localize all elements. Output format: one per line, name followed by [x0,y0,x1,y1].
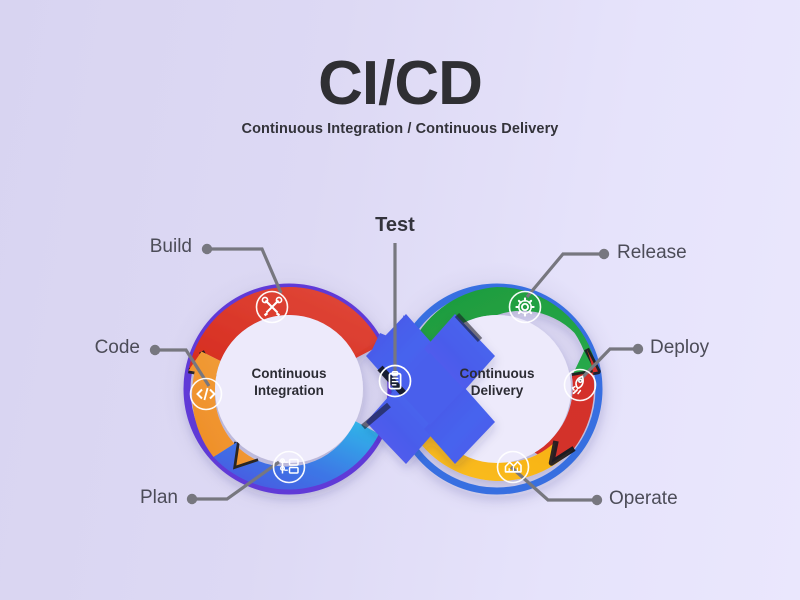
cicd-infographic: CI/CD Continuous Integration / Continuou… [0,0,800,600]
connector-dot-deploy [633,344,643,354]
stage-label-code[interactable]: Code [30,337,140,359]
stage-label-test[interactable]: Test [345,214,445,237]
infinity-loop-diagram [0,0,800,600]
stage-label-build[interactable]: Build [80,236,192,258]
right-loop-caption: Continuous Delivery [427,366,567,400]
stage-label-plan[interactable]: Plan [68,487,178,509]
stage-label-operate[interactable]: Operate [609,488,678,510]
left-loop-caption-line2: Integration [219,383,359,400]
connector-dot-code [150,345,160,355]
right-loop-caption-line1: Continuous [427,366,567,383]
stage-label-deploy[interactable]: Deploy [650,337,709,359]
stage-label-release[interactable]: Release [617,242,687,264]
connector-dot-plan [187,494,197,504]
connector-dot-build [202,244,212,254]
connector-dot-operate [592,495,602,505]
right-loop-caption-line2: Delivery [427,383,567,400]
left-loop-caption-line1: Continuous [219,366,359,383]
connector-dot-release [599,249,609,259]
left-loop-caption: Continuous Integration [219,366,359,400]
